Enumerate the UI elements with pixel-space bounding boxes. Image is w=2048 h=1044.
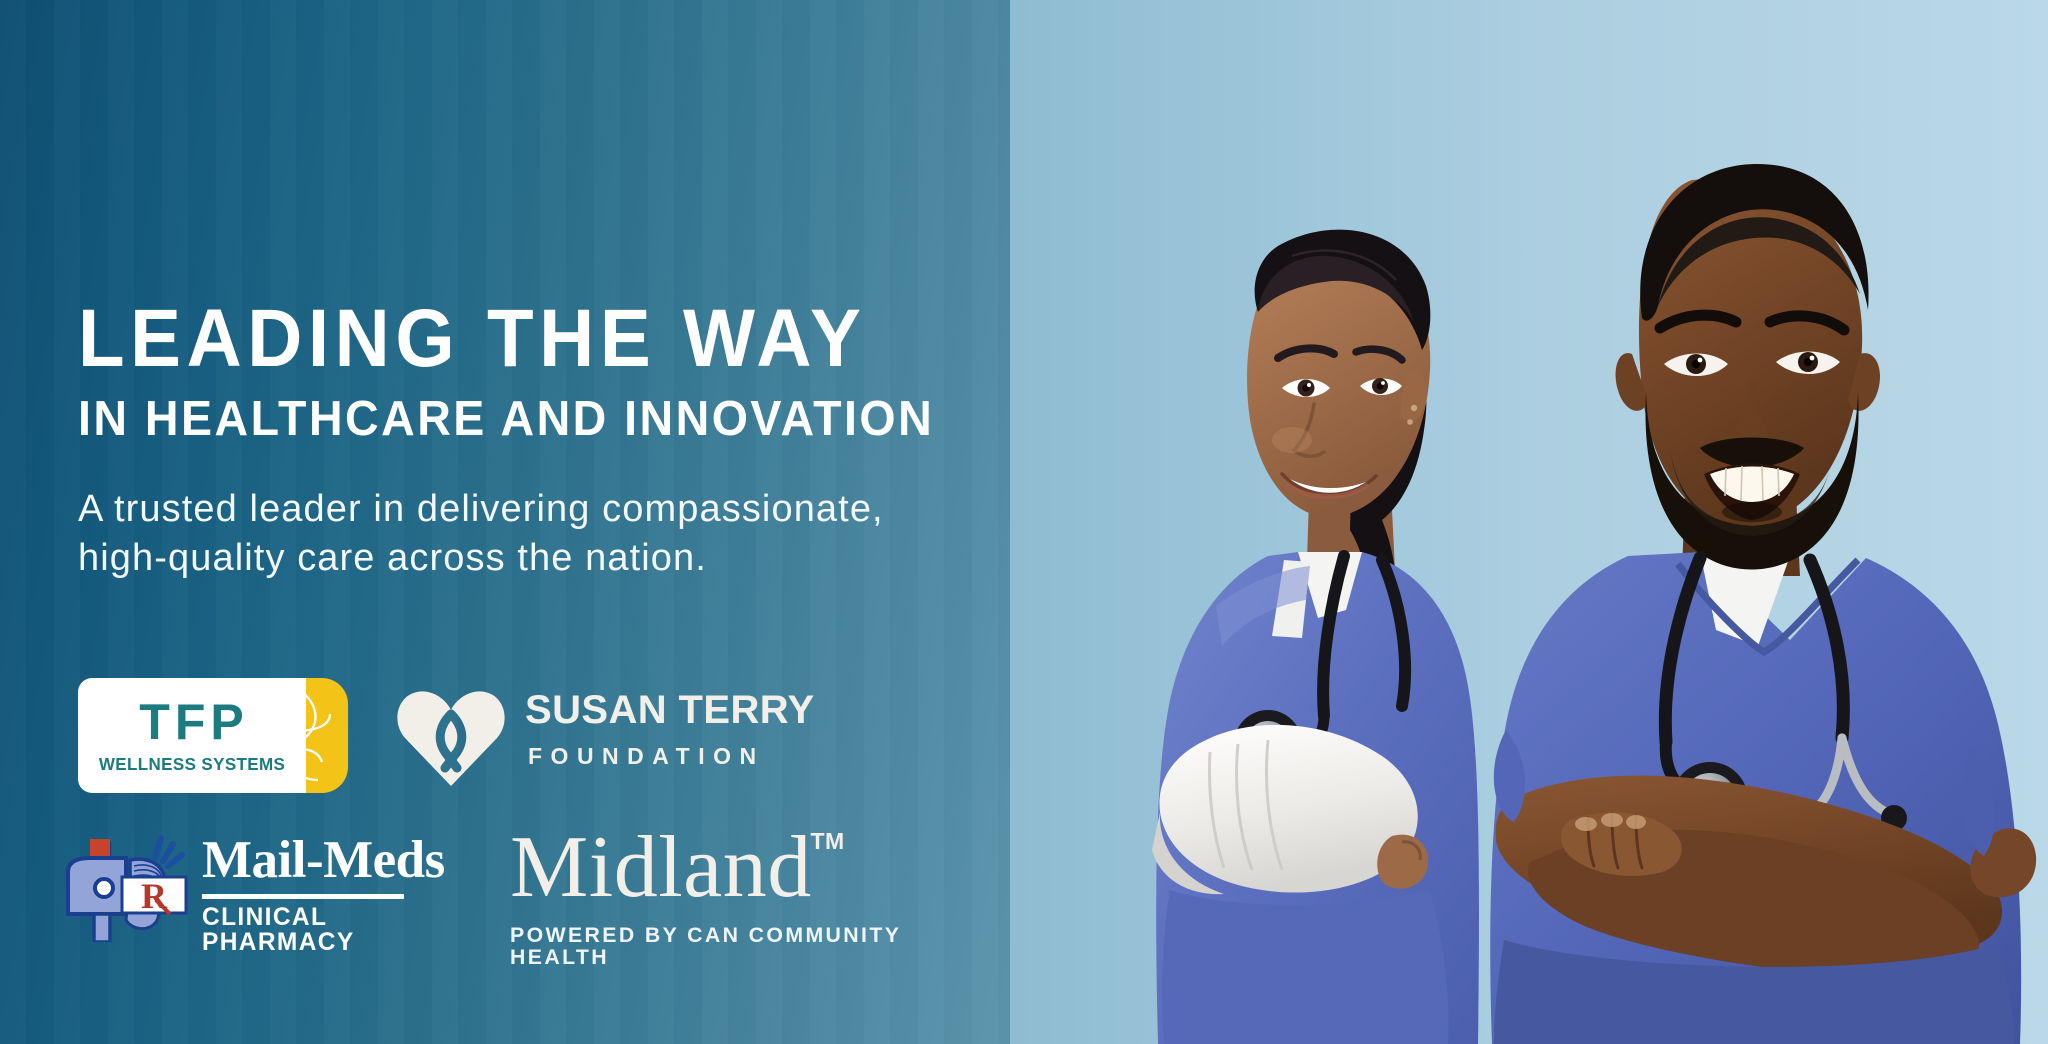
tagline-block: A trusted leader in delivering compassio… (78, 485, 1098, 582)
page-subtitle: IN HEALTHCARE AND INNOVATION (78, 394, 1047, 445)
mail-meds-divider (202, 894, 404, 899)
midland-tagline: POWERED BY CAN COMMUNITY HEALTH (510, 925, 926, 968)
susan-terry-name: SUSAN TERRY (525, 690, 815, 730)
tagline-line-2: high-quality care across the nation. (78, 534, 1098, 583)
heart-ribbon-icon (395, 680, 507, 793)
tagline-line-1: A trusted leader in delivering compassio… (78, 485, 1098, 534)
mail-meds-name: Mail-Meds (202, 834, 460, 887)
page-title: LEADING THE WAY (78, 300, 1027, 378)
logo-mail-meds-clinical-pharmacy[interactable]: R Mail-Meds CLINICAL PHARMACY (60, 828, 460, 946)
logo-susan-terry-foundation[interactable]: SUSAN TERRY FOUNDATION (395, 672, 815, 797)
healthcare-workers-photo (1010, 0, 2048, 1044)
tfp-name-card: TFP WELLNESS SYSTEMS (78, 678, 306, 793)
susan-terry-subtitle: FOUNDATION (528, 745, 815, 768)
logo-tfp-wellness-systems[interactable]: TFP WELLNESS SYSTEMS (78, 678, 348, 793)
mail-meds-tagline: CLINICAL PHARMACY (202, 905, 455, 955)
logo-midland[interactable]: MidlandTM POWERED BY CAN COMMUNITY HEALT… (510, 824, 930, 946)
midland-wordmark: MidlandTM (510, 824, 812, 912)
tfp-tagline: WELLNESS SYSTEMS (99, 756, 285, 774)
mail-meds-wordmark: Mail-Meds CLINICAL PHARMACY (202, 834, 460, 955)
susan-terry-wordmark: SUSAN TERRY FOUNDATION (525, 690, 815, 768)
mailbox-rx-icon: R (60, 830, 192, 947)
tfp-wordmark: TFP (139, 697, 248, 747)
healthcare-banner: LEADING THE WAY IN HEALTHCARE AND INNOVA… (0, 0, 2048, 1044)
headline-block: LEADING THE WAY IN HEALTHCARE AND INNOVA… (78, 300, 1098, 583)
midland-name: Midland (510, 819, 812, 916)
trademark-icon: TM (810, 830, 844, 853)
